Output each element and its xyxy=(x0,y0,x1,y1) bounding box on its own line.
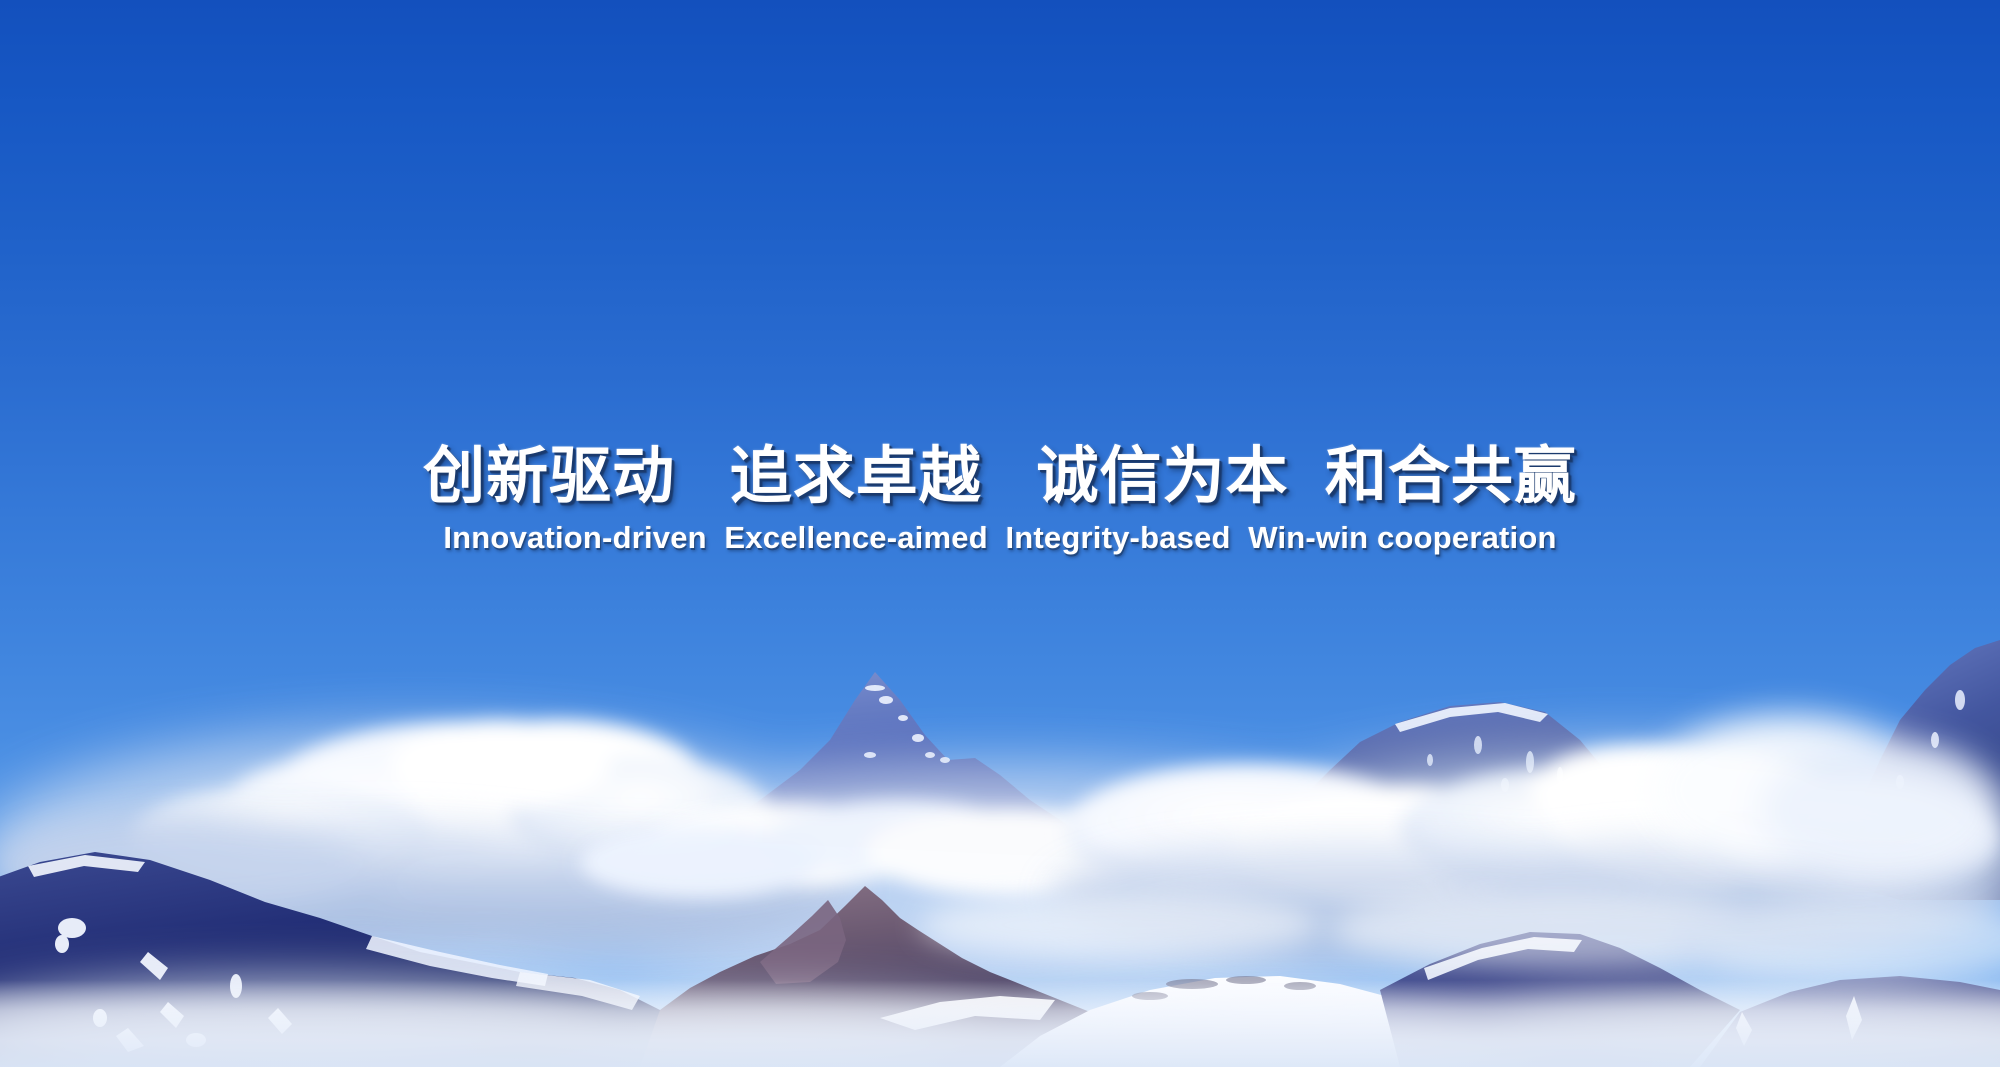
bottom-fog-band xyxy=(0,980,2000,1067)
slogan-english: Innovation-driven Excellence-aimed Integ… xyxy=(0,522,2000,553)
hero-banner: 创新驱动 追求卓越 诚信为本 和合共赢 Innovation-driven Ex… xyxy=(0,0,2000,1067)
slogan-block: 创新驱动 追求卓越 诚信为本 和合共赢 Innovation-driven Ex… xyxy=(0,446,2000,553)
slogan-chinese: 创新驱动 追求卓越 诚信为本 和合共赢 xyxy=(0,446,2000,508)
fog-veil-right xyxy=(920,890,2000,982)
